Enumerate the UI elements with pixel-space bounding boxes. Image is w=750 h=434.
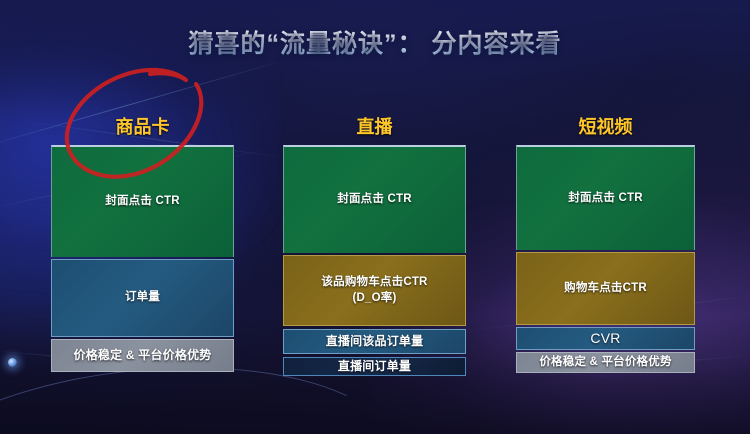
- slide-canvas: 猜喜的“流量秘诀”： 分内容来看 商品卡 封面点击 CTR 订单量 价格稳定 &…: [0, 0, 750, 434]
- column-blocks-short-video: 封面点击 CTR 购物车点击CTR CVR 价格稳定 & 平台价格优势: [516, 145, 695, 373]
- page-title: 猜喜的“流量秘诀”： 分内容来看: [0, 24, 750, 60]
- metric-block-cart-click-ctr[interactable]: 购物车点击CTR: [516, 252, 695, 325]
- column-header-short-video: 短视频: [516, 113, 695, 141]
- light-dot: [8, 358, 17, 367]
- metric-block-live-room-orders[interactable]: 直播间订单量: [283, 357, 466, 376]
- column-header-product-card: 商品卡: [51, 113, 234, 141]
- column-short-video: 短视频 封面点击 CTR 购物车点击CTR CVR 价格稳定 & 平台价格优势: [516, 113, 695, 375]
- metric-block-cover-ctr[interactable]: 封面点击 CTR: [51, 145, 234, 257]
- metric-block-live-item-orders[interactable]: 直播间该品订单量: [283, 329, 466, 354]
- metric-block-cover-ctr[interactable]: 封面点击 CTR: [283, 145, 466, 253]
- column-blocks-livestream: 封面点击 CTR 该品购物车点击CTR (D_O率) 直播间该品订单量 直播间订…: [283, 145, 466, 376]
- column-livestream: 直播 封面点击 CTR 该品购物车点击CTR (D_O率) 直播间该品订单量 直…: [283, 113, 466, 378]
- column-product-card: 商品卡 封面点击 CTR 订单量 价格稳定 & 平台价格优势: [51, 113, 234, 374]
- column-header-livestream: 直播: [283, 113, 466, 141]
- metric-block-cart-click-ctr-do[interactable]: 该品购物车点击CTR (D_O率): [283, 255, 466, 326]
- column-blocks-product-card: 封面点击 CTR 订单量 价格稳定 & 平台价格优势: [51, 145, 234, 372]
- background-top-glow: [0, 0, 750, 120]
- metric-block-price-advantage[interactable]: 价格稳定 & 平台价格优势: [51, 339, 234, 372]
- metric-block-cover-ctr[interactable]: 封面点击 CTR: [516, 145, 695, 250]
- metric-block-order-volume[interactable]: 订单量: [51, 259, 234, 337]
- metric-block-price-advantage[interactable]: 价格稳定 & 平台价格优势: [516, 352, 695, 373]
- metric-block-cvr[interactable]: CVR: [516, 327, 695, 350]
